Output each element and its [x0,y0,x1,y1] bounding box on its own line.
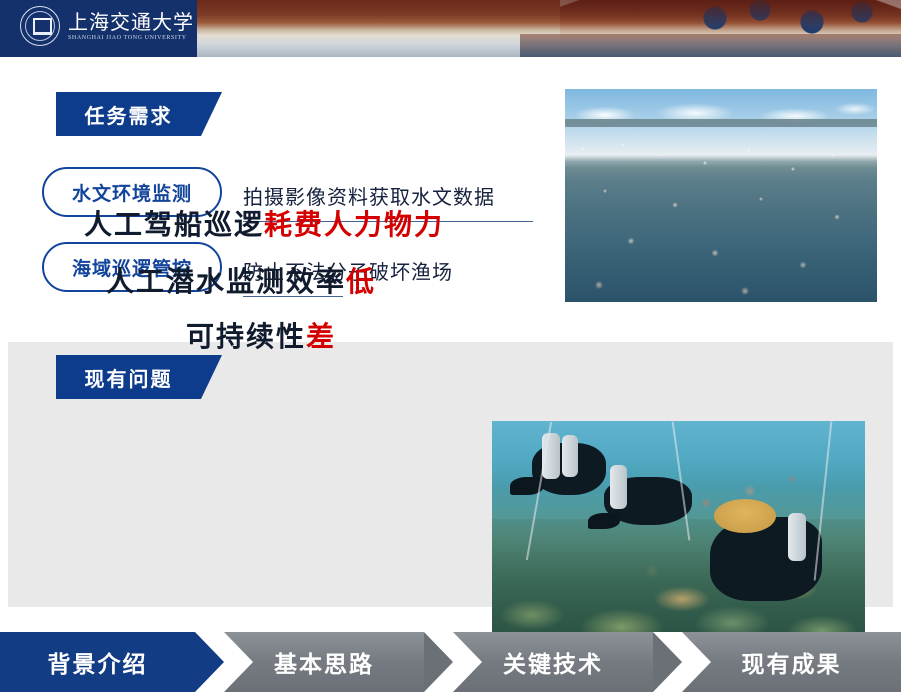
problem-line-2-highlight: 低 [346,265,376,298]
diver-middle-fin-icon [588,513,620,529]
problem-line-1-normal: 人工驾船巡逻 [84,208,264,241]
nav-item-key-tech-label: 关键技术 [503,645,603,679]
banner-arrow-icon [201,355,222,399]
problem-line-2-normal: 人工潜水监测效率 [106,265,346,298]
diver-left-tank2-icon [562,435,578,477]
university-seal-icon [20,6,60,46]
problem-line-3: 可持续性差 [186,315,336,355]
section-problem-banner-label: 现有问题 [85,363,173,392]
problem-line-2: 人工潜水监测效率低 [106,260,376,300]
nav-item-results[interactable]: 现有成果 [682,632,901,692]
nav-item-approach[interactable]: 基本思路 [224,632,424,692]
task-pill-hydrology-label: 水文环境监测 [72,179,192,206]
problem-line-3-highlight: 差 [306,320,336,353]
diver-right-tank-icon [788,513,806,561]
university-name-cn: 上海交通大学 [68,12,194,32]
problem-line-1-highlight: 耗费人力物力 [264,208,444,241]
chevron-right-icon [424,632,453,692]
university-name-en: SHANGHAI JIAO TONG UNIVERSITY [68,35,194,41]
section-task-banner-label: 任务需求 [85,100,173,129]
nav-item-background[interactable]: 背景介绍 [0,632,195,692]
chevron-notch-icon [224,632,253,692]
nav-item-key-tech[interactable]: 关键技术 [453,632,653,692]
chevron-notch-icon [453,632,482,692]
problem-line-3-normal: 可持续性 [186,320,306,353]
slide-body: 任务需求 水文环境监测 拍摄影像资料获取水文数据 海域巡逻管控 防止不法分子破坏… [0,57,901,632]
chevron-right-icon [653,632,682,692]
university-logo: 上海交通大学 SHANGHAI JIAO TONG UNIVERSITY [20,6,194,46]
chevron-right-icon [195,632,224,692]
diver-right-hat-icon [714,499,776,533]
chevron-notch-icon [682,632,711,692]
divers-coral-reef-photo [492,421,865,639]
section-problem-banner: 现有问题 [56,355,201,399]
sea-surface-aquaculture-photo [565,89,877,302]
slide-footer-nav: 背景介绍 基本思路 关键技术 现有成果 [0,632,901,692]
photo-coastline [565,119,877,127]
nav-item-results-label: 现有成果 [742,645,842,679]
photo-floating-buoys [565,129,877,302]
university-logo-text: 上海交通大学 SHANGHAI JIAO TONG UNIVERSITY [68,12,194,41]
banner-arrow-icon [201,92,222,136]
slide-header: 上海交通大学 SHANGHAI JIAO TONG UNIVERSITY [0,0,901,57]
diver-middle-tank-icon [610,465,627,509]
nav-item-background-label: 背景介绍 [48,645,148,679]
photo-sky-clouds [565,89,877,123]
problem-line-1: 人工驾船巡逻耗费人力物力 [84,203,444,243]
section-task-banner: 任务需求 [56,92,201,136]
nav-item-approach-label: 基本思路 [274,645,374,679]
